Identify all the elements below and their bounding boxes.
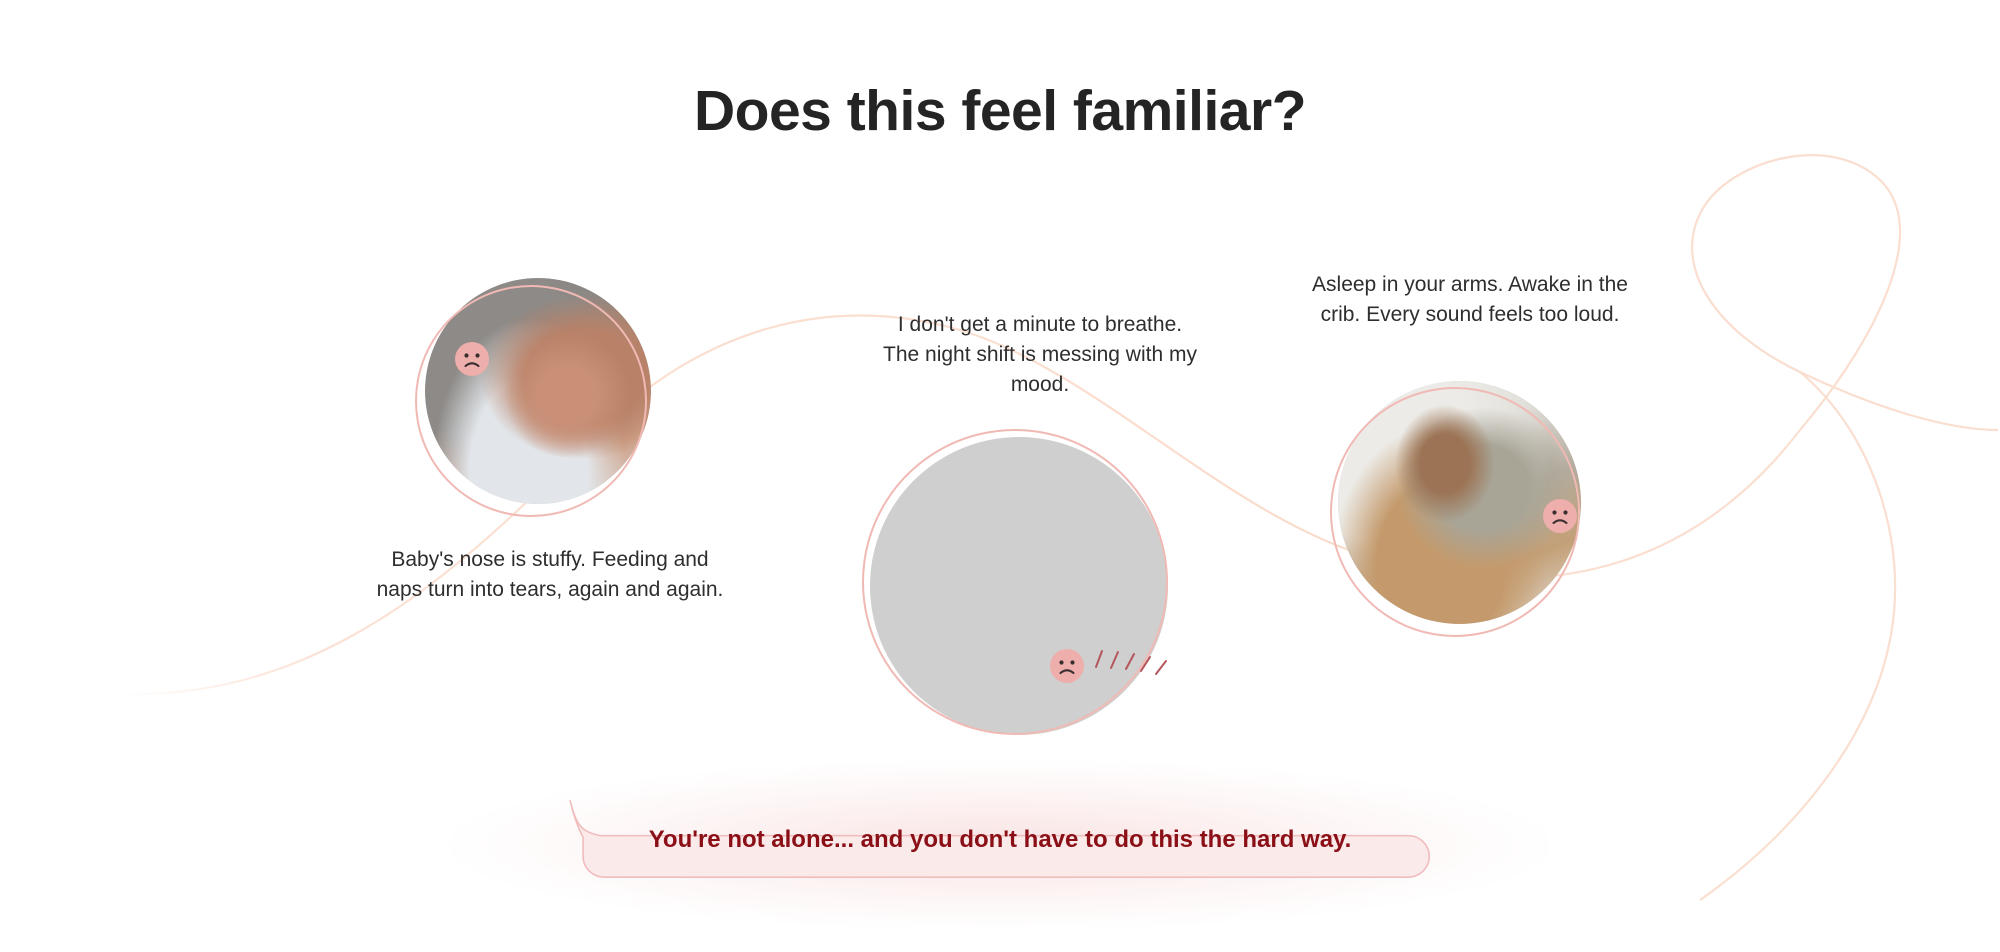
banner-text: You're not alone... and you don't have t… [560, 800, 1440, 880]
sleeping-baby-photo [870, 437, 1168, 735]
page-root: Does this feel familiar? Baby's nose is … [0, 0, 2000, 952]
page-title: Does this feel familiar? [0, 78, 2000, 144]
photo-image [425, 278, 651, 504]
reassurance-banner: You're not alone... and you don't have t… [560, 800, 1440, 880]
story-caption: Baby's nose is stuffy. Feeding and naps … [370, 545, 730, 605]
photo-wrap [1290, 375, 1670, 645]
tick-marks-decoration [1090, 637, 1180, 687]
story-caption: I don't get a minute to breathe. The nig… [880, 310, 1200, 399]
photo-wrap [330, 280, 810, 530]
sad-face-icon [1543, 499, 1577, 533]
sad-face-icon [455, 342, 489, 376]
sad-face-icon [1050, 649, 1084, 683]
photo-wrap [840, 415, 1260, 735]
story-caption: Asleep in your arms. Awake in the crib. … [1300, 270, 1640, 330]
photo-image [870, 437, 1168, 735]
crying-baby-photo [425, 278, 651, 504]
story-card-stuffy-nose: Baby's nose is stuffy. Feeding and naps … [330, 280, 810, 530]
